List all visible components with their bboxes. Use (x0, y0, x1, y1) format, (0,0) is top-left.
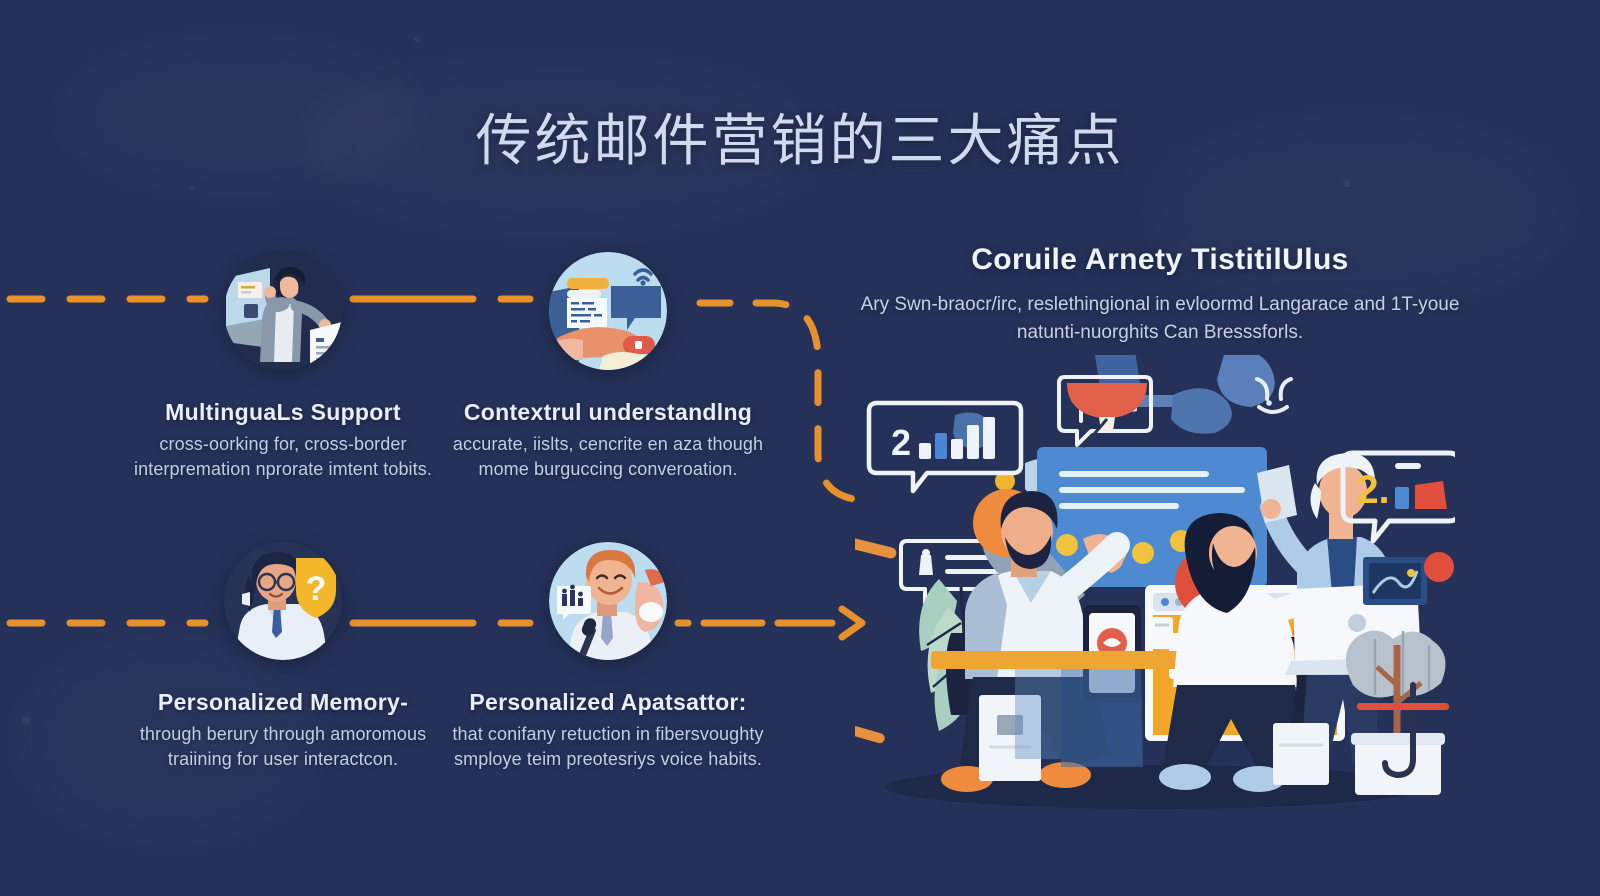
background-dot (22, 716, 31, 725)
background-dot (189, 186, 194, 191)
picture-frame (1363, 557, 1427, 605)
feature-card-contextual-understanding[interactable]: Contextrul understandlng accurate, iislt… (443, 252, 773, 483)
feature-title: MultinguaLs Support (118, 398, 448, 427)
feature-card-personalized-memory[interactable]: ? Personalized Memory- through berury th… (118, 542, 448, 773)
pencil-icon-2 (855, 724, 886, 745)
right-headline-block: Coruile Arnety TistitilUlus Ary Swn-brao… (860, 243, 1460, 346)
svg-text:2: 2 (891, 422, 911, 463)
feature-description: cross-oorking for, cross-border interpre… (118, 432, 448, 483)
svg-text:2.: 2. (1356, 468, 1389, 512)
right-headline-title: Coruile Arnety TistitilUlus (860, 243, 1460, 277)
cabinet-right (1273, 723, 1329, 785)
office-team-meeting-illustration: 2 (855, 355, 1455, 815)
feature-card-personalized-adaptation[interactable]: Personalized Apatsattor: that conifany r… (443, 542, 773, 773)
person-with-microphone-illustration (549, 542, 667, 660)
feature-description: accurate, iislts, cencrite en aza though… (443, 432, 773, 483)
feature-description: through berury through amoromous traiini… (118, 722, 448, 773)
feature-description: that conifany retuction in fibersvoughty… (443, 722, 773, 773)
person-with-shield-question-illustration: ? (224, 542, 342, 660)
background-dot (1343, 180, 1350, 187)
hand-with-chat-bubble-illustration (549, 252, 667, 370)
right-headline-description: Ary Swn-braocr/irc, reslethingional in e… (860, 291, 1460, 346)
background-dot (414, 36, 420, 42)
cup-icon (1151, 617, 1173, 649)
svg-text:?: ? (306, 570, 327, 608)
feature-title: Contextrul understandlng (443, 398, 773, 427)
feature-title: Personalized Apatsattor: (443, 688, 773, 717)
person-with-documents-illustration (224, 252, 342, 370)
feature-title: Personalized Memory- (118, 688, 448, 717)
page-title: 传统邮件营销的三大痛点 (0, 96, 1600, 177)
infographic-canvas: 传统邮件营销的三大痛点 (0, 0, 1600, 896)
feature-card-multilingual-support[interactable]: MultinguaLs Support cross-oorking for, c… (118, 252, 448, 483)
pencil-icon (855, 535, 898, 560)
